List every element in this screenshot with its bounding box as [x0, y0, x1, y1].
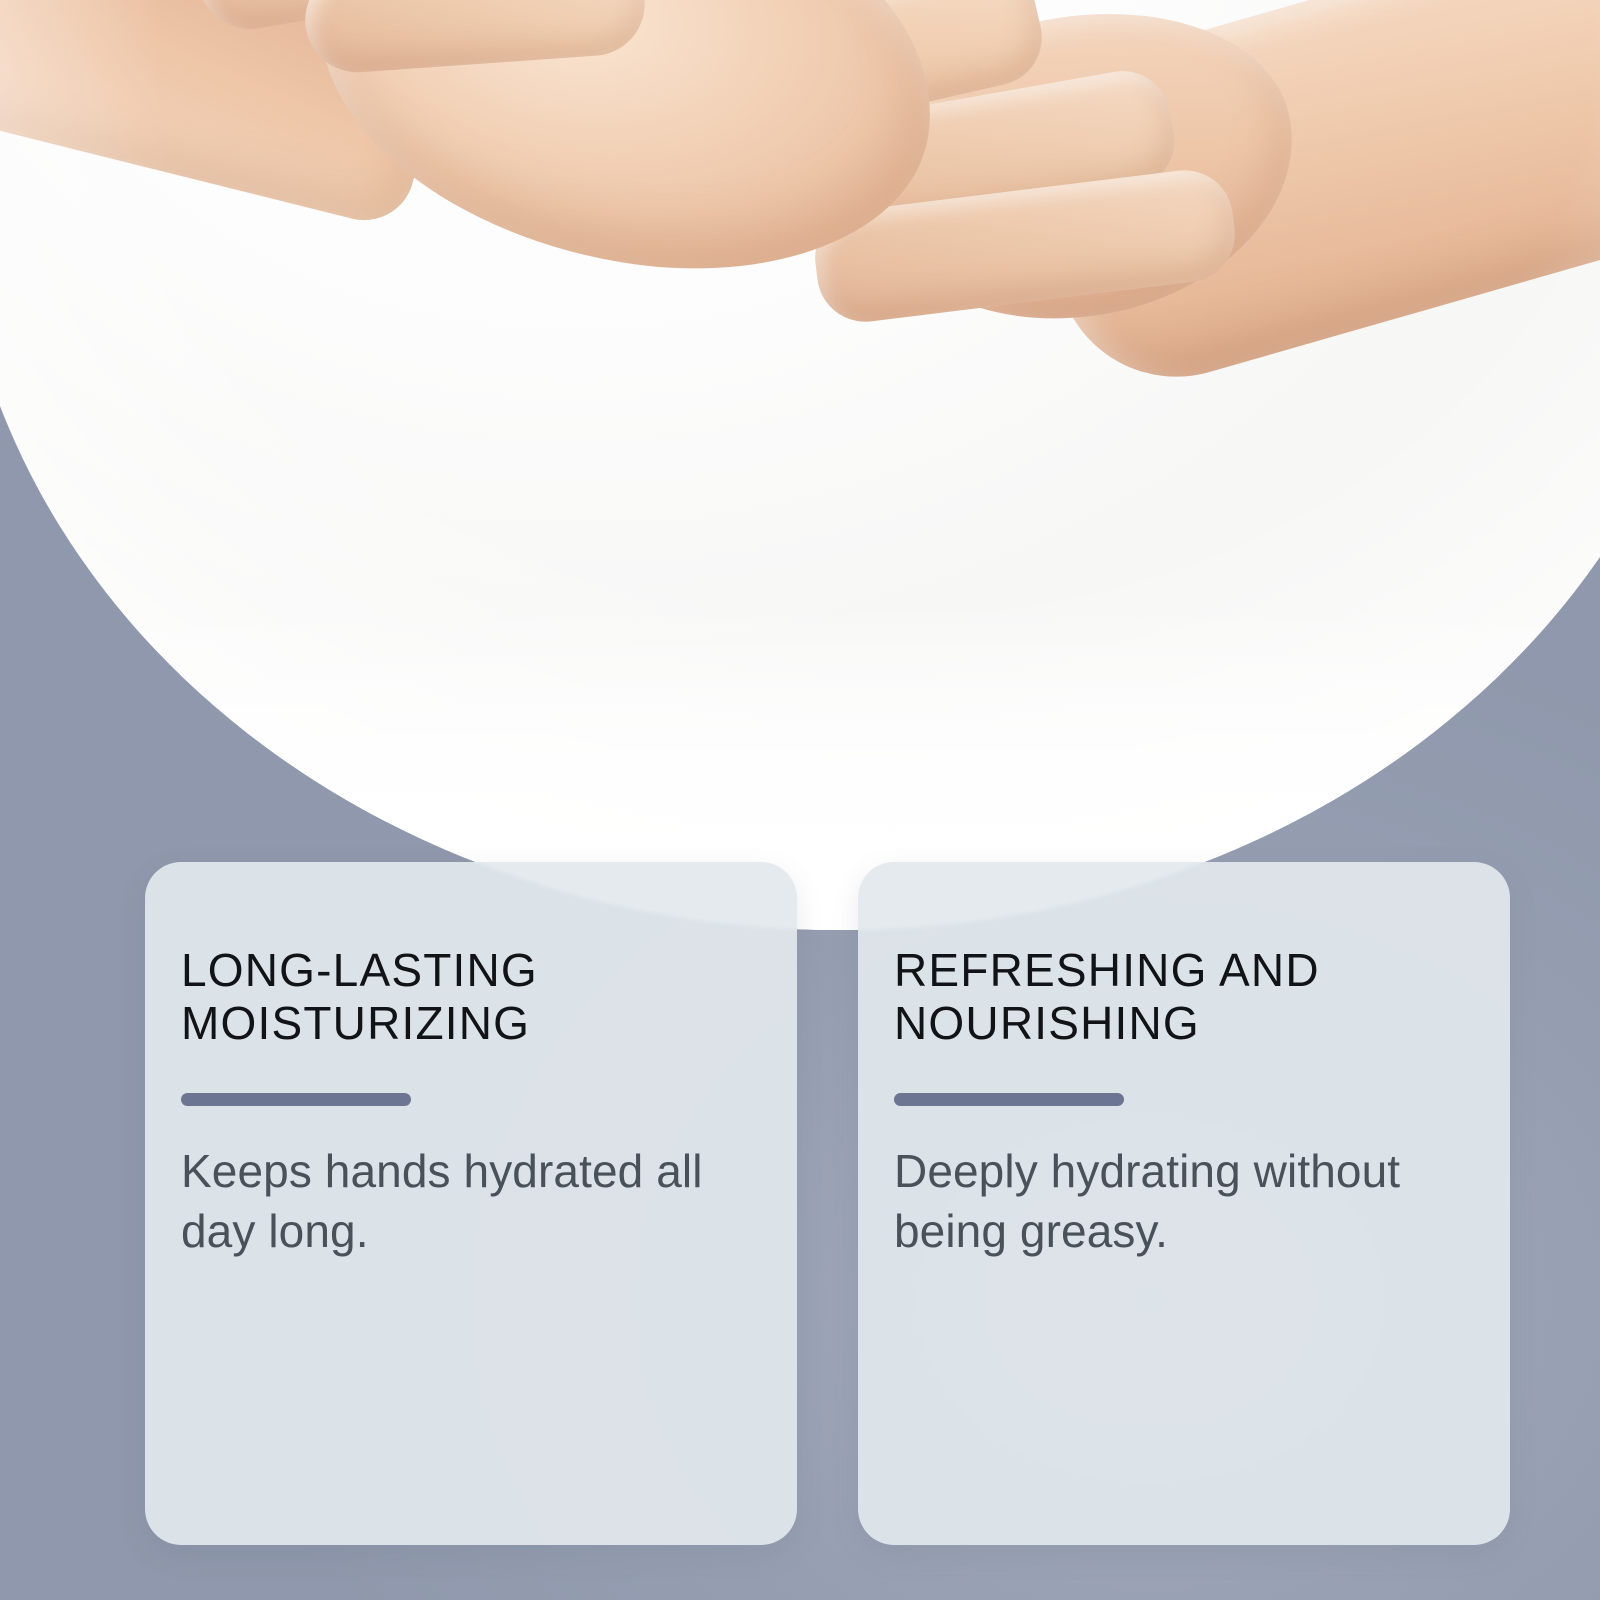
feature-card-refreshing-and-nourishing[interactable]: REFRESHING AND NOURISHING Deeply hydrati… [858, 862, 1510, 1545]
feature-card-long-lasting-moisturizing[interactable]: LONG-LASTING MOISTURIZING Keeps hands hy… [145, 862, 797, 1545]
accent-rule-divider [181, 1093, 411, 1106]
hands-illustration [0, 0, 1600, 930]
accent-rule-divider [894, 1093, 1124, 1106]
product-feature-banner: LONG-LASTING MOISTURIZING Keeps hands hy… [0, 0, 1600, 1600]
feature-card-body: Deeply hydrating without being greasy. [894, 1142, 1464, 1262]
hero-circle-image [0, 0, 1600, 930]
feature-card-title: LONG-LASTING MOISTURIZING [181, 944, 751, 1051]
feature-card-body: Keeps hands hydrated all day long. [181, 1142, 751, 1262]
feature-card-title: REFRESHING AND NOURISHING [894, 944, 1464, 1051]
